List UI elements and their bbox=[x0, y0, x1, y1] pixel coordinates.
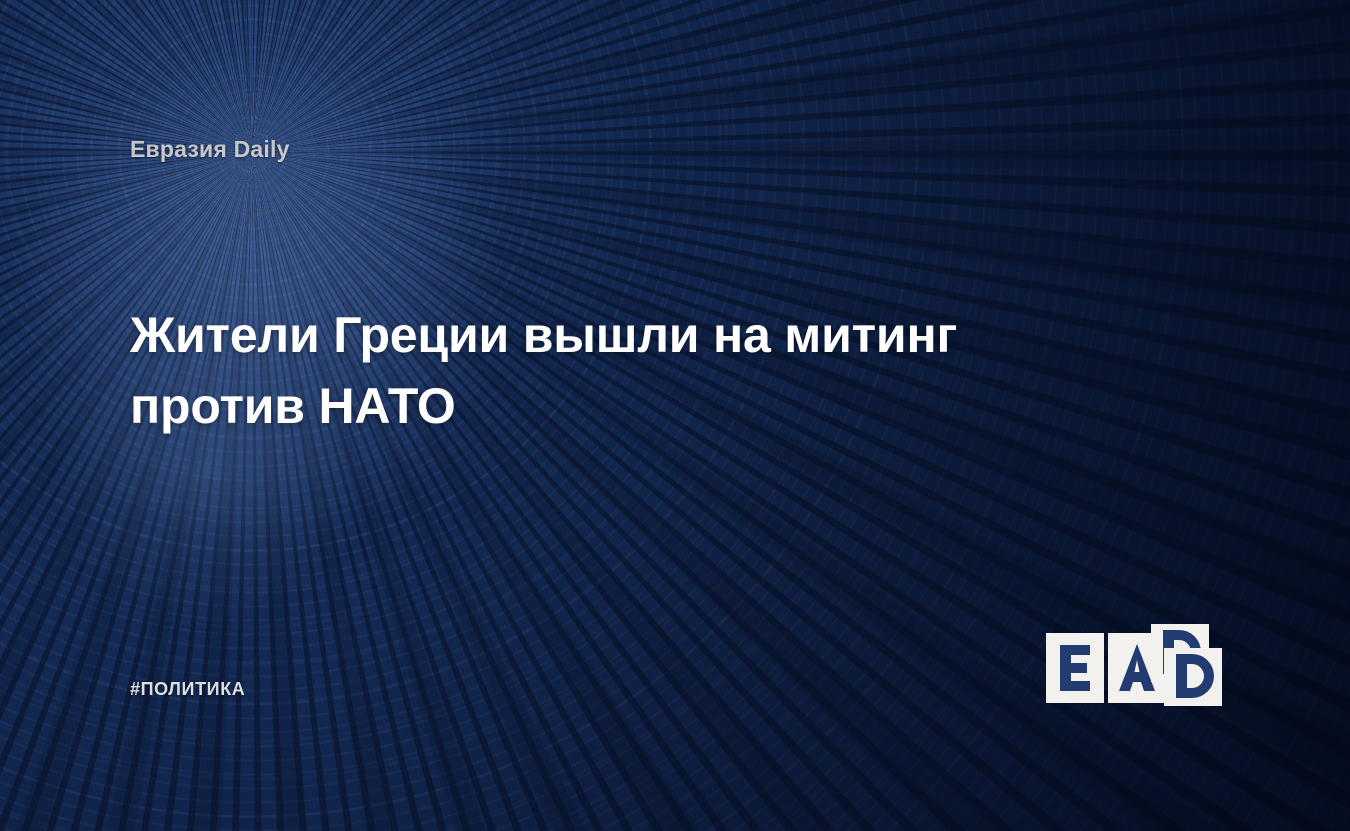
eadaily-logo[interactable] bbox=[1046, 624, 1222, 706]
article-headline: Жители Греции вышли на митинг против НАТ… bbox=[130, 300, 1090, 442]
category-tag[interactable]: #ПОЛИТИКА bbox=[130, 679, 245, 700]
logo-tile-e bbox=[1046, 633, 1104, 703]
logo-tile-d-lower bbox=[1164, 648, 1222, 706]
article-cover-card: Евразия Daily Жители Греции вышли на мит… bbox=[0, 0, 1350, 831]
letter-d-icon bbox=[1164, 648, 1222, 706]
letter-e-icon bbox=[1046, 633, 1104, 703]
site-logo-text[interactable]: Евразия Daily bbox=[130, 136, 290, 163]
cover-content: Евразия Daily Жители Греции вышли на мит… bbox=[0, 0, 1350, 831]
